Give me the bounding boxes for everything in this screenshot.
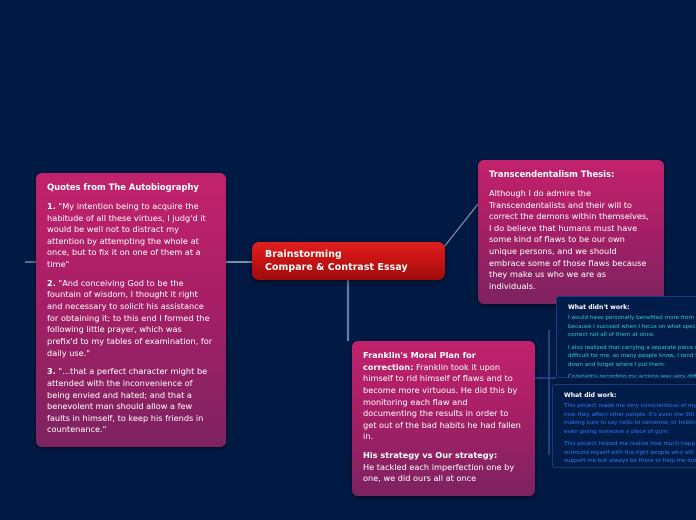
center-node-line-1: Brainstorming [265, 249, 445, 262]
quote-number-1: 1. [47, 201, 56, 211]
did-work-line-8: situation. This also then made me realiz… [564, 466, 696, 468]
quote-item-3: 3. "...that a perfect character might be… [47, 366, 215, 436]
offscreen-fragment-3: can [0, 256, 17, 267]
mindmap-canvas[interactable]: y, I ly can ce Quotes from The Autobiogr… [0, 0, 696, 520]
didnt-work-paragraph-2: I also realized that carrying a separate… [568, 344, 696, 370]
didnt-work-line-1: I would have personally benefited more f… [568, 314, 696, 323]
node-offscreen-left[interactable]: y, I ly can ce [0, 216, 25, 296]
did-work-line-1: This project made me very conscientious … [564, 402, 696, 411]
quote-item-2: 2. "And conceiving God to be the fountai… [47, 278, 215, 359]
did-work-line-6: surround myself with the right people wh… [564, 449, 696, 458]
node-transcendentalism-thesis[interactable]: Transcendentalism Thesis: Although I do … [478, 160, 664, 304]
quote-item-1: 1. "My intention being to acquire the ha… [47, 201, 215, 271]
did-work-line-5: This project helped me realize how much … [564, 440, 696, 449]
node-franklin-moral-plan[interactable]: Franklin's Moral Plan for correction: Fr… [352, 341, 535, 496]
thesis-node-title: Transcendentalism Thesis: [489, 169, 653, 181]
node-quotes-autobiography[interactable]: Quotes from The Autobiography 1. "My int… [36, 173, 226, 447]
franklin-node-body: Franklin took it upon himself to rid him… [363, 362, 521, 442]
quote-number-2: 2. [47, 278, 56, 288]
didnt-work-paragraph-3: Constantly recording my actions was very… [568, 373, 696, 378]
didnt-work-line-6: down and forget where I put them. [568, 361, 696, 370]
franklin-strategy-body: He tackled each imperfection one by one,… [363, 462, 514, 484]
did-work-line-7: support me but always be there to help m… [564, 457, 696, 466]
did-work-line-2: how they affect other people. It's even … [564, 411, 696, 420]
didnt-work-line-2: because I succeed when I focus on what s… [568, 323, 696, 332]
quote-text-1: "My intention being to acquire the habit… [47, 201, 206, 269]
quote-text-3: "...that a perfect character might be at… [47, 366, 207, 434]
didnt-work-line-4: I also realized that carrying a separate… [568, 344, 696, 353]
did-work-paragraph-1: This project made me very conscientious … [564, 402, 696, 436]
didnt-work-line-5: difficult for me, as many people know, I… [568, 352, 696, 361]
center-node-line-2: Compare & Contrast Essay [265, 262, 445, 275]
panel-what-didnt-work[interactable]: What didn't work: I would have personall… [556, 296, 696, 378]
did-work-line-3: making sure to say hello to someone, or … [564, 419, 696, 428]
franklin-strategy-paragraph: His strategy vs Our strategy:He tackled … [363, 450, 524, 485]
didnt-work-title: What didn't work: [568, 303, 696, 312]
didnt-work-line-3: correct not all of them at once. [568, 331, 696, 340]
offscreen-fragment-1: y, I [0, 222, 17, 233]
did-work-paragraph-2: This project helped me realize how much … [564, 440, 696, 468]
quotes-node-title: Quotes from The Autobiography [47, 182, 215, 194]
offscreen-fragment-4: ce [0, 273, 17, 284]
quote-number-3: 3. [47, 366, 56, 376]
franklin-strategy-title: His strategy vs Our strategy: [363, 450, 497, 460]
panel-what-did-work[interactable]: What did work: This project made me very… [552, 384, 696, 468]
didnt-work-paragraph-1: I would have personally benefited more f… [568, 314, 696, 340]
node-center-brainstorming[interactable]: Brainstorming Compare & Contrast Essay [252, 242, 445, 280]
did-work-title: What did work: [564, 391, 696, 400]
thesis-node-body: Although I do admire the Transcendentali… [489, 188, 653, 293]
didnt-work-line-7: Constantly recording my actions was very… [568, 373, 696, 378]
offscreen-fragment-2: ly [0, 239, 17, 250]
franklin-plan-paragraph: Franklin's Moral Plan for correction: Fr… [363, 350, 524, 443]
quote-text-2: "And conceiving God to be the fountain o… [47, 278, 212, 358]
did-work-line-4: even giving someone a piece of gum. [564, 428, 696, 437]
